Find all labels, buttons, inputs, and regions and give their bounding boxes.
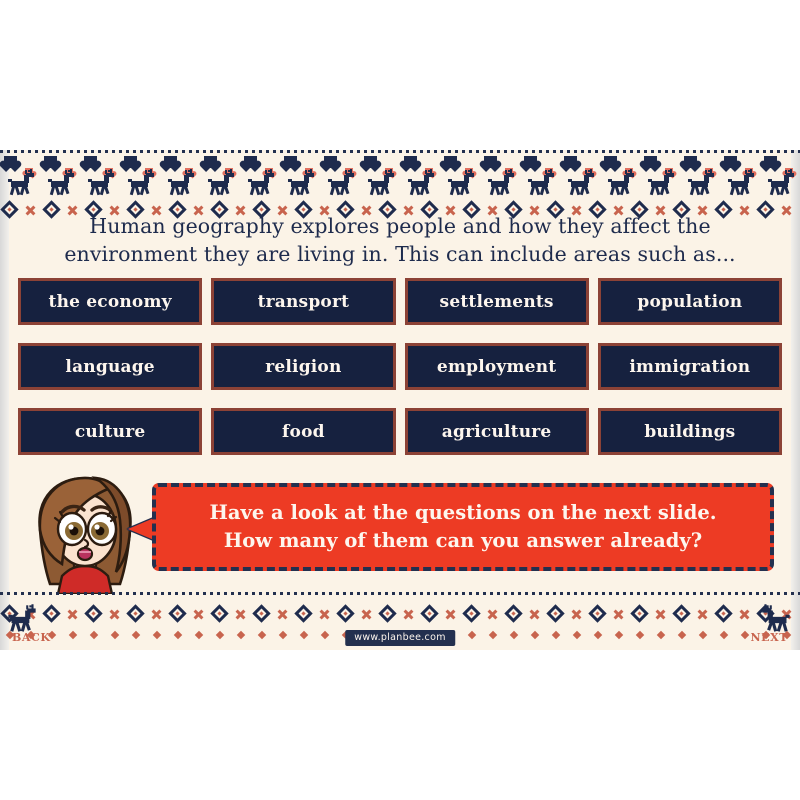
dot-motif: [147, 630, 168, 642]
diamond-motif: [336, 605, 357, 625]
topic-tile-immigration[interactable]: immigration: [598, 343, 782, 390]
border-dot-line-bottom: [0, 592, 800, 596]
dot-motif: [693, 630, 714, 642]
cross-motif: [189, 605, 210, 625]
page-title: Human geography explores people and how …: [24, 212, 776, 268]
cross-motif: [693, 605, 714, 625]
cross-motif: [525, 605, 546, 625]
topic-tile-culture[interactable]: culture: [18, 408, 202, 455]
dot-motif: [504, 630, 525, 642]
cross-motif: [609, 605, 630, 625]
cross-motif: [441, 605, 462, 625]
topic-tile-employment[interactable]: employment: [405, 343, 589, 390]
reindeer-icon: [280, 156, 320, 202]
diamond-motif: [168, 605, 189, 625]
reindeer-glyph: [687, 170, 715, 198]
topic-tile-language[interactable]: language: [18, 343, 202, 390]
reindeer-heart-row: [0, 156, 800, 202]
bottom-nordic-border: BACK NEXT www.planbee.com: [0, 592, 800, 650]
reindeer-glyph: [447, 170, 475, 198]
reindeer-icon: [440, 156, 480, 202]
diamond-motif: [546, 605, 567, 625]
dot-motif: [105, 630, 126, 642]
presentation-slide: Human geography explores people and how …: [0, 150, 800, 650]
cross-motif: [63, 605, 84, 625]
slide-left-edge-shadow: [0, 150, 9, 650]
reindeer-icon: [0, 156, 40, 202]
reindeer-glyph: [87, 170, 115, 198]
reindeer-icon: [680, 156, 720, 202]
cross-motif: [567, 605, 588, 625]
reindeer-glyph: [567, 170, 595, 198]
diamond-motif: [42, 605, 63, 625]
dot-motif: [231, 630, 252, 642]
topic-tile-population[interactable]: population: [598, 278, 782, 325]
cross-motif: [777, 201, 798, 221]
heart-icon: [324, 156, 337, 168]
reindeer-icon: [480, 156, 520, 202]
reindeer-glyph: [127, 170, 155, 198]
reindeer-icon: [760, 156, 800, 202]
diamond-band-bottom: [0, 604, 800, 626]
cross-motif: [357, 605, 378, 625]
heart-icon: [364, 156, 377, 168]
back-button[interactable]: BACK: [12, 631, 51, 644]
reindeer-glyph: [207, 170, 235, 198]
heart-icon: [644, 156, 657, 168]
speech-bubble-tail: [128, 518, 154, 540]
topic-tile-religion[interactable]: religion: [211, 343, 395, 390]
diamond-motif: [462, 605, 483, 625]
dot-motif: [84, 630, 105, 642]
speech-bubble: Have a look at the questions on the next…: [152, 483, 774, 571]
site-url-label: www.planbee.com: [345, 630, 455, 646]
reindeer-glyph: [487, 170, 515, 198]
dot-motif: [126, 630, 147, 642]
topic-tile-agriculture[interactable]: agriculture: [405, 408, 589, 455]
heart-icon: [684, 156, 697, 168]
reindeer-glyph: [407, 170, 435, 198]
heart-icon: [564, 156, 577, 168]
dot-motif: [294, 630, 315, 642]
dot-motif: [189, 630, 210, 642]
cross-motif: [147, 605, 168, 625]
diamond-motif: [504, 605, 525, 625]
topic-tile-food[interactable]: food: [211, 408, 395, 455]
dot-motif: [63, 630, 84, 642]
reindeer-glyph: [247, 170, 275, 198]
reindeer-icon: [600, 156, 640, 202]
heart-icon: [604, 156, 617, 168]
heart-icon: [404, 156, 417, 168]
topic-tile-buildings[interactable]: buildings: [598, 408, 782, 455]
dot-motif: [210, 630, 231, 642]
reindeer-icon: [640, 156, 680, 202]
dot-motif: [651, 630, 672, 642]
diamond-motif: [294, 605, 315, 625]
heart-icon: [244, 156, 257, 168]
dot-motif: [525, 630, 546, 642]
speech-bubble-line-2: How many of them can you answer already?: [224, 527, 702, 555]
diamond-motif: [0, 201, 21, 221]
dot-motif: [567, 630, 588, 642]
diamond-motif: [126, 605, 147, 625]
topic-tile-transport[interactable]: transport: [211, 278, 395, 325]
reindeer-glyph: [367, 170, 395, 198]
topic-tile-settlements[interactable]: settlements: [405, 278, 589, 325]
dot-motif: [609, 630, 630, 642]
dot-motif: [588, 630, 609, 642]
reindeer-glyph: [727, 170, 755, 198]
reindeer-icon: [40, 156, 80, 202]
border-dot-line-top: [0, 150, 800, 154]
reindeer-glyph: [327, 170, 355, 198]
heart-icon: [724, 156, 737, 168]
heart-icon: [84, 156, 97, 168]
dot-motif: [672, 630, 693, 642]
dot-motif: [252, 630, 273, 642]
reindeer-icon: [360, 156, 400, 202]
dot-motif: [315, 630, 336, 642]
diamond-motif: [630, 605, 651, 625]
cross-motif: [483, 605, 504, 625]
reindeer-icon: [320, 156, 360, 202]
reindeer-icon: [400, 156, 440, 202]
cross-motif: [399, 605, 420, 625]
heart-icon: [124, 156, 137, 168]
reindeer-icon: [200, 156, 240, 202]
reindeer-glyph: [167, 170, 195, 198]
dot-motif: [273, 630, 294, 642]
speech-bubble-line-1: Have a look at the questions on the next…: [209, 499, 716, 527]
heart-icon: [284, 156, 297, 168]
reindeer-glyph: [47, 170, 75, 198]
dot-motif: [483, 630, 504, 642]
reindeer-glyph: [767, 170, 795, 198]
heart-icon: [44, 156, 57, 168]
reindeer-glyph: [7, 170, 35, 198]
diamond-motif: [84, 605, 105, 625]
heart-icon: [524, 156, 537, 168]
reindeer-icon: [240, 156, 280, 202]
topic-tile-grid: the economy transport settlements popula…: [18, 278, 782, 455]
cross-motif: [273, 605, 294, 625]
diamond-motif: [210, 605, 231, 625]
reindeer-icon: [520, 156, 560, 202]
reindeer-icon: [120, 156, 160, 202]
slide-page: Human geography explores people and how …: [0, 0, 800, 800]
heart-icon: [444, 156, 457, 168]
diamond-motif: [378, 605, 399, 625]
dot-motif: [462, 630, 483, 642]
reindeer-icon: [720, 156, 760, 202]
next-button[interactable]: NEXT: [750, 631, 788, 644]
reindeer-icon: [560, 156, 600, 202]
dot-motif: [546, 630, 567, 642]
reindeer-icon: [80, 156, 120, 202]
cross-motif: [651, 605, 672, 625]
slide-right-edge-shadow: [791, 150, 800, 650]
reindeer-icon: [160, 156, 200, 202]
heart-icon: [764, 156, 777, 168]
topic-tile-the-economy[interactable]: the economy: [18, 278, 202, 325]
heart-icon: [164, 156, 177, 168]
diamond-motif: [714, 605, 735, 625]
reindeer-glyph: [287, 170, 315, 198]
reindeer-glyph: [607, 170, 635, 198]
dot-motif: [630, 630, 651, 642]
heart-icon: [484, 156, 497, 168]
heart-icon: [4, 156, 17, 168]
dot-motif: [168, 630, 189, 642]
diamond-motif: [672, 605, 693, 625]
reindeer-glyph: [647, 170, 675, 198]
dot-motif: [714, 630, 735, 642]
heart-icon: [204, 156, 217, 168]
cross-motif: [231, 605, 252, 625]
diamond-motif: [252, 605, 273, 625]
cross-motif: [735, 605, 756, 625]
cross-motif: [315, 605, 336, 625]
diamond-motif: [588, 605, 609, 625]
reindeer-glyph: [527, 170, 555, 198]
cross-motif: [105, 605, 126, 625]
diamond-motif: [420, 605, 441, 625]
